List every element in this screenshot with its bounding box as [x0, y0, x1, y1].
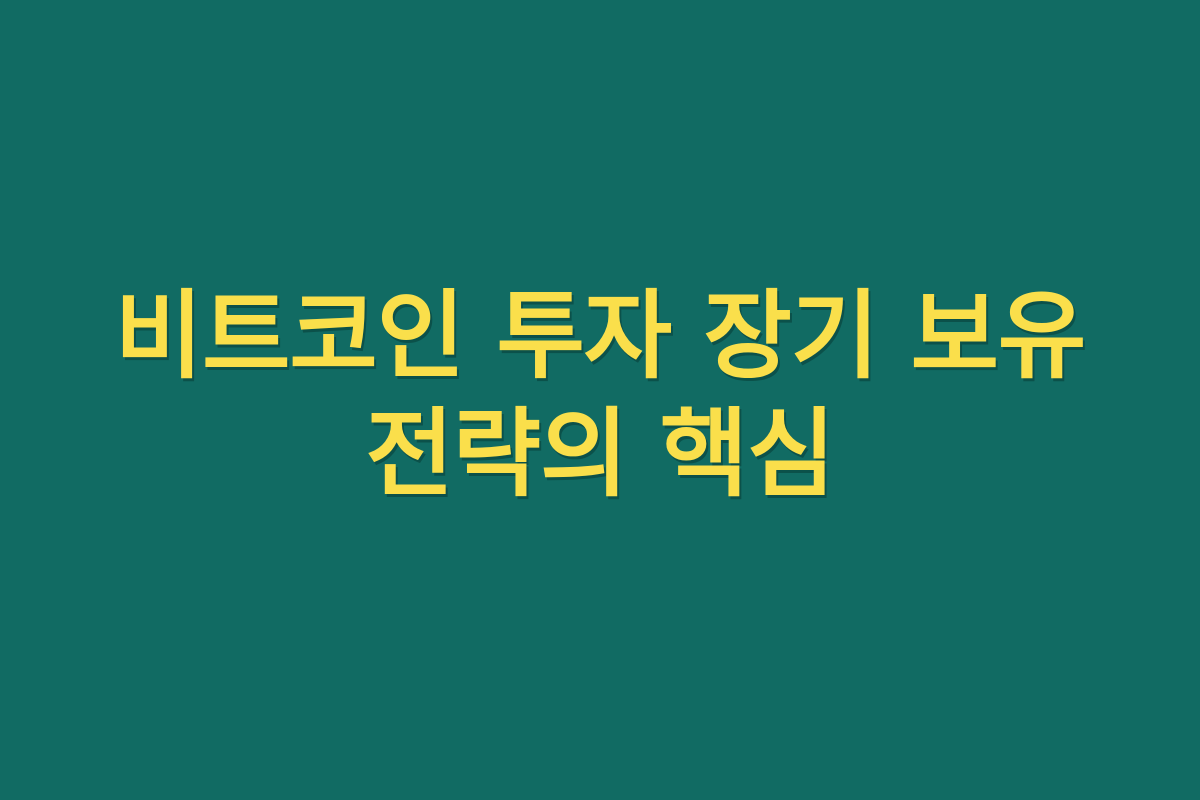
poster-canvas: 비트코인 투자 장기 보유 전략의 핵심: [0, 0, 1200, 800]
headline-line-1: 비트코인 투자 장기 보유: [40, 277, 1160, 395]
headline-block: 비트코인 투자 장기 보유 전략의 핵심: [0, 277, 1200, 513]
headline-line-2: 전략의 핵심: [40, 395, 1160, 513]
